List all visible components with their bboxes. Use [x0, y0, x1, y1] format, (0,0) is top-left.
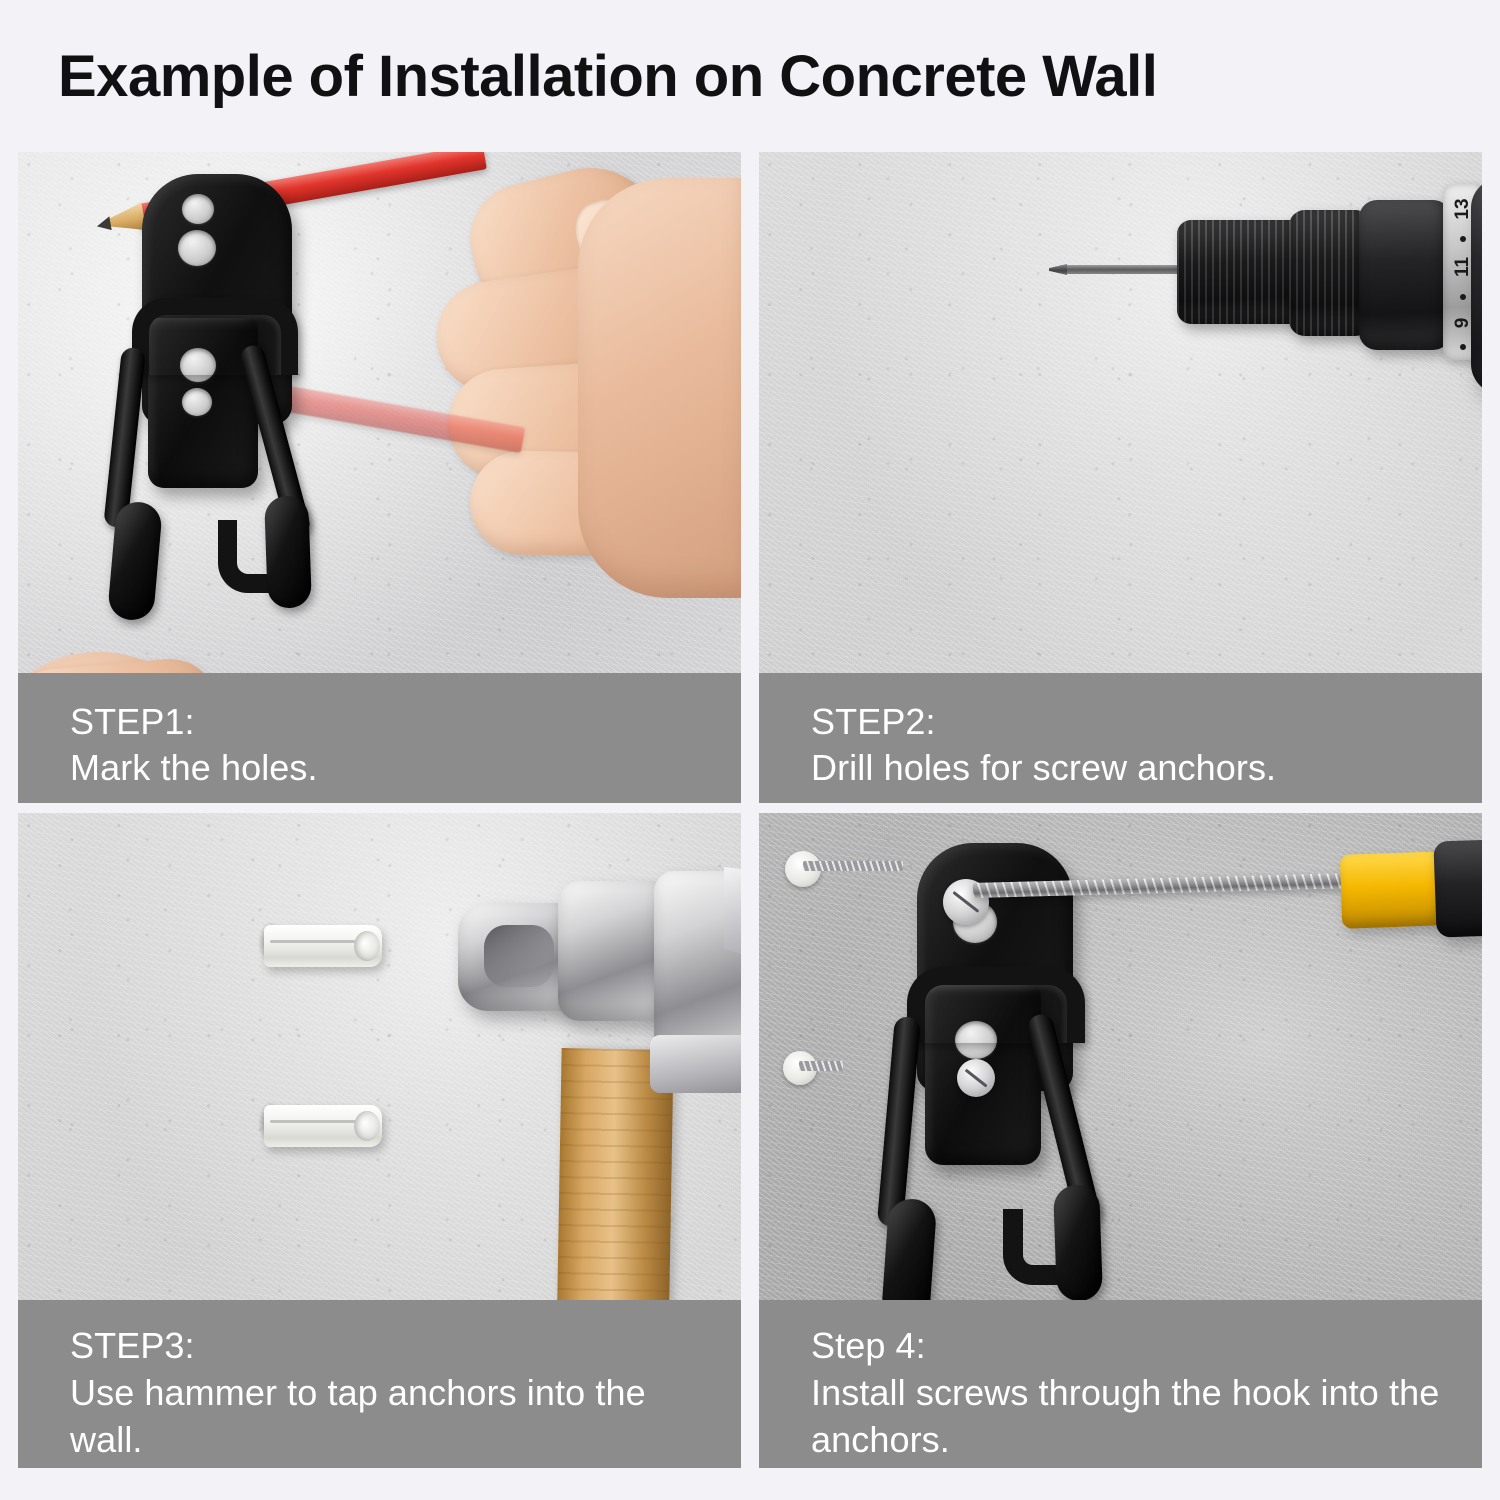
step-panel-3: STEP3: Use hammer to tap anchors into th… — [18, 813, 741, 1468]
step-3-description-line-1: Use hammer to tap anchors into the — [70, 1369, 710, 1416]
screwdriver-ferrule — [1340, 851, 1449, 929]
step-4-description-line-2: anchors. — [811, 1416, 1451, 1463]
step-3-description-line-2: wall. — [70, 1416, 710, 1463]
wall-anchor-upper — [264, 925, 382, 967]
drill-body — [1471, 178, 1482, 394]
hook-yoke — [132, 298, 298, 375]
steps-grid: STEP1: Mark the holes. 13 11 — [18, 152, 1482, 1468]
step-4-label: Step 4: — [811, 1322, 1451, 1369]
screwdriver-handle — [1433, 836, 1482, 937]
mounting-hole-top — [182, 194, 214, 224]
drill-front-housing — [1359, 200, 1451, 350]
drill-bit — [1065, 265, 1185, 274]
drill-chuck — [1177, 220, 1303, 324]
screw-lower — [799, 1061, 843, 1071]
clutch-dot-1 — [1460, 236, 1466, 242]
hammer-handle-collar — [650, 1035, 741, 1093]
hand-right-palm — [578, 178, 741, 598]
hook-tip-left — [107, 500, 163, 622]
mounting-hole-bottom — [182, 388, 212, 416]
hook-tip-right — [1053, 1184, 1103, 1302]
hammer-peen-shading — [484, 925, 554, 987]
wall-anchor-lower — [264, 1105, 382, 1147]
page-title: Example of Installation on Concrete Wall — [58, 34, 1458, 120]
step-panel-4: Step 4: Install screws through the hook … — [759, 813, 1482, 1468]
step-2-label: STEP2: — [811, 699, 1451, 745]
step-1-description: Mark the holes. — [70, 745, 710, 791]
step-panel-1: STEP1: Mark the holes. — [18, 152, 741, 803]
step-2-caption: STEP2: Drill holes for screw anchors. — [759, 673, 1482, 803]
step-3-label: STEP3: — [70, 1322, 710, 1369]
step-4-description-line-1: Install screws through the hook into the — [811, 1369, 1451, 1416]
step-panel-2: 13 11 9 — [759, 152, 1482, 803]
step-1-label: STEP1: — [70, 699, 710, 745]
clutch-dot-2 — [1460, 294, 1466, 300]
hook-yoke — [907, 967, 1085, 1043]
hook-tip-right — [264, 495, 312, 608]
hook-arm-left — [103, 347, 146, 529]
step-2-description: Drill holes for screw anchors. — [811, 745, 1451, 791]
step-4-caption: Step 4: Install screws through the hook … — [759, 1300, 1482, 1468]
screw-head-lower — [957, 1059, 995, 1097]
drill-chuck-ribs — [1177, 220, 1303, 324]
mounting-hole-upper — [178, 230, 216, 266]
step-1-caption: STEP1: Mark the holes. — [18, 673, 741, 803]
clutch-dot-3 — [1460, 344, 1466, 350]
step-3-caption: STEP3: Use hammer to tap anchors into th… — [18, 1300, 741, 1468]
